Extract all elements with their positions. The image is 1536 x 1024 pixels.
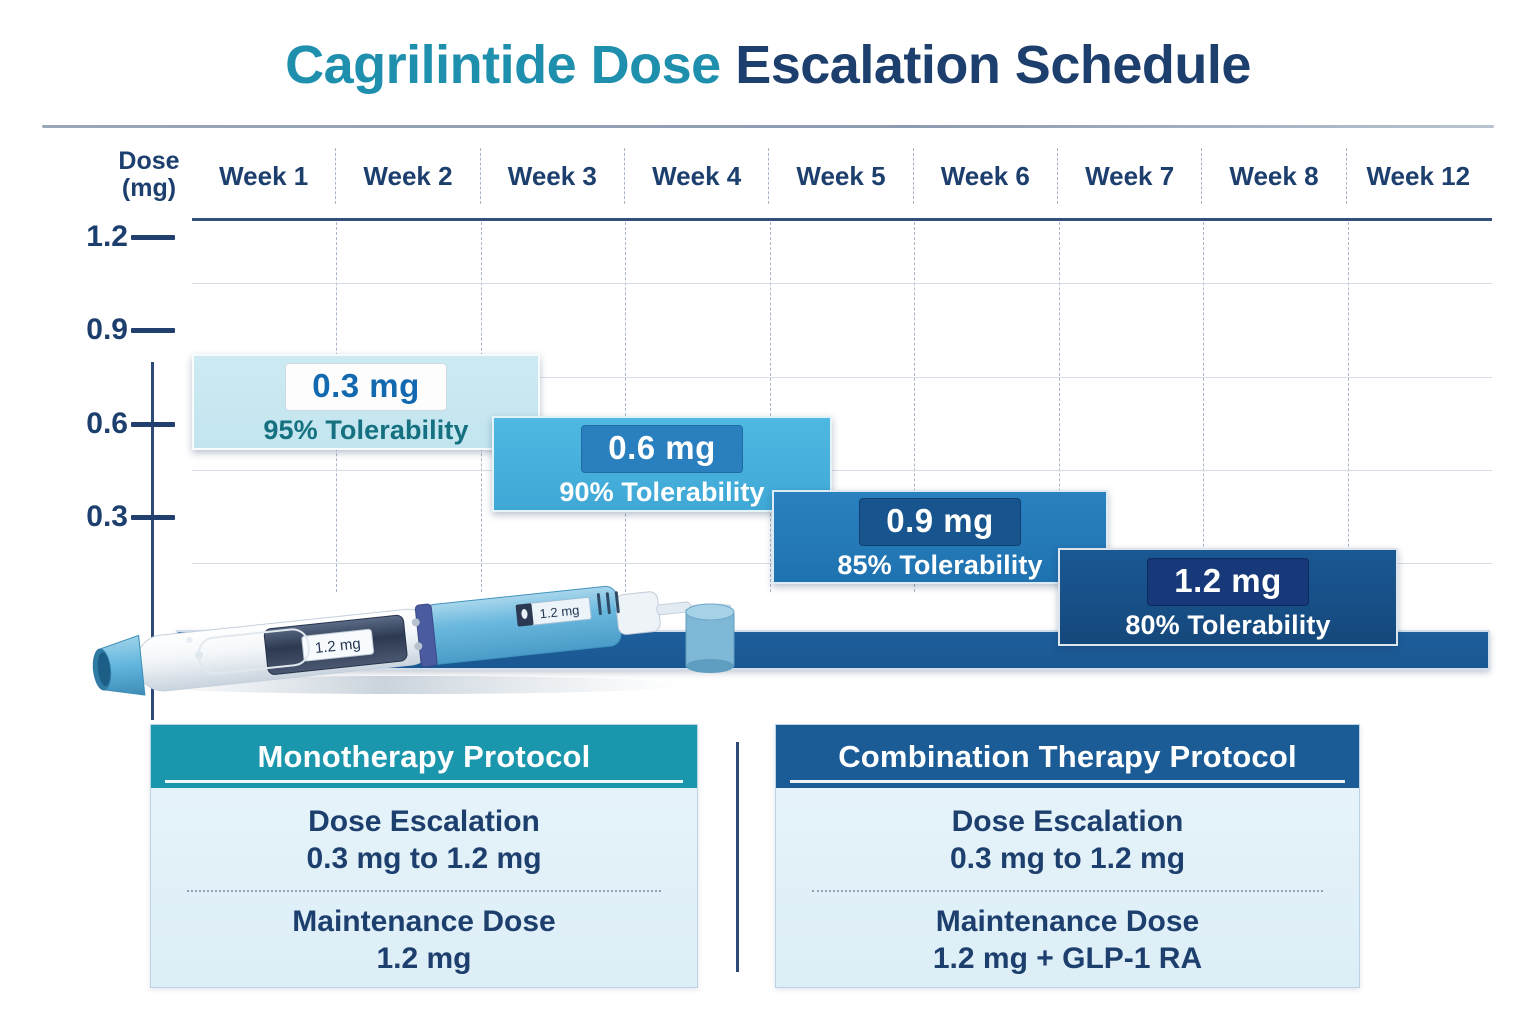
y-axis-caption: Dose (mg) [104, 148, 194, 202]
header-separator-rule [192, 218, 1492, 221]
dose-step-bar-1-2mg[interactable]: 1.2 mg 80% Tolerability [1058, 548, 1398, 646]
tolerability-label: 90% Tolerability [559, 477, 764, 508]
dose-label-chip: 0.9 mg [859, 498, 1021, 546]
gridline-horizontal [192, 470, 1492, 471]
monotherapy-escalation-value: 0.3 mg to 1.2 mg [179, 840, 669, 878]
week-label-4: Week 4 [625, 148, 769, 204]
injection-pen-illustration: 1.2 mg 1.2 mg [80, 572, 760, 702]
dose-step-bar-0-3mg[interactable]: 0.3 mg 95% Tolerability [192, 354, 540, 450]
y-axis-caption-line1: Dose [104, 148, 194, 175]
infographic-root: Cagrilintide Dose Escalation Schedule Do… [0, 0, 1536, 1024]
y-axis-label-0-9: 0.9 [78, 313, 128, 347]
combination-card-body: Dose Escalation 0.3 mg to 1.2 mg Mainten… [776, 788, 1359, 977]
week-label-8: Week 8 [1202, 148, 1346, 204]
week-label-2: Week 2 [336, 148, 480, 204]
combination-card-title: Combination Therapy Protocol [838, 739, 1297, 775]
week-label-6: Week 6 [914, 148, 1058, 204]
pen-cap-detached [686, 604, 734, 673]
combination-escalation-label: Dose Escalation [804, 804, 1331, 840]
dose-escalation-chart: Dose (mg) Week 1 Week 2 Week 3 Week 4 We… [0, 130, 1536, 600]
injection-pen-icon: 1.2 mg 1.2 mg [80, 572, 760, 702]
dose-label-chip: 0.3 mg [285, 363, 447, 411]
dose-label-chip: 0.6 mg [581, 425, 743, 473]
monotherapy-card-header: Monotherapy Protocol [151, 725, 697, 788]
combination-card-divider [812, 890, 1323, 892]
monotherapy-protocol-card[interactable]: Monotherapy Protocol Dose Escalation 0.3… [150, 724, 698, 988]
y-axis-tick [131, 422, 175, 427]
combination-therapy-protocol-card[interactable]: Combination Therapy Protocol Dose Escala… [775, 724, 1360, 988]
monotherapy-card-title: Monotherapy Protocol [258, 739, 591, 775]
gridline-vertical [1203, 222, 1204, 592]
combination-maintenance-label: Maintenance Dose [804, 904, 1331, 940]
title-secondary-text: Escalation Schedule [735, 35, 1251, 95]
dose-label-chip: 1.2 mg [1147, 558, 1309, 606]
week-label-1: Week 1 [192, 148, 336, 204]
y-axis-label-0-6: 0.6 [78, 407, 128, 441]
title-divider-rule [42, 125, 1494, 128]
combination-maintenance-value: 1.2 mg + GLP-1 RA [804, 940, 1331, 978]
card-vertical-divider [736, 742, 739, 972]
combination-card-header: Combination Therapy Protocol [776, 725, 1359, 788]
gridline-vertical [1348, 222, 1349, 592]
tolerability-label: 95% Tolerability [263, 415, 468, 446]
week-label-3: Week 3 [481, 148, 625, 204]
y-axis-tick [131, 515, 175, 520]
monotherapy-maintenance-value: 1.2 mg [179, 940, 669, 978]
title-accent-text: Cagrilintide Dose [285, 35, 735, 95]
y-axis-label-1-2: 1.2 [78, 220, 128, 254]
monotherapy-maintenance-label: Maintenance Dose [179, 904, 669, 940]
monotherapy-card-body: Dose Escalation 0.3 mg to 1.2 mg Mainten… [151, 788, 697, 977]
week-header-row: Week 1 Week 2 Week 3 Week 4 Week 5 Week … [192, 148, 1490, 204]
gridline-vertical [625, 222, 626, 592]
page-title: Cagrilintide Dose Escalation Schedule [0, 34, 1536, 96]
y-axis-tick [131, 235, 175, 240]
y-axis-tick [131, 328, 175, 333]
monotherapy-escalation-label: Dose Escalation [179, 804, 669, 840]
week-label-12: Week 12 [1347, 148, 1490, 204]
tolerability-label: 80% Tolerability [1125, 610, 1330, 641]
week-label-7: Week 7 [1058, 148, 1202, 204]
y-axis-caption-line2: (mg) [104, 175, 194, 202]
gridline-horizontal [192, 283, 1492, 284]
gridline-vertical [770, 222, 771, 592]
week-label-5: Week 5 [769, 148, 913, 204]
monotherapy-card-divider [187, 890, 661, 892]
y-axis-label-0-3: 0.3 [78, 500, 128, 534]
combination-escalation-value: 0.3 mg to 1.2 mg [804, 840, 1331, 878]
tolerability-label: 85% Tolerability [837, 550, 1042, 581]
